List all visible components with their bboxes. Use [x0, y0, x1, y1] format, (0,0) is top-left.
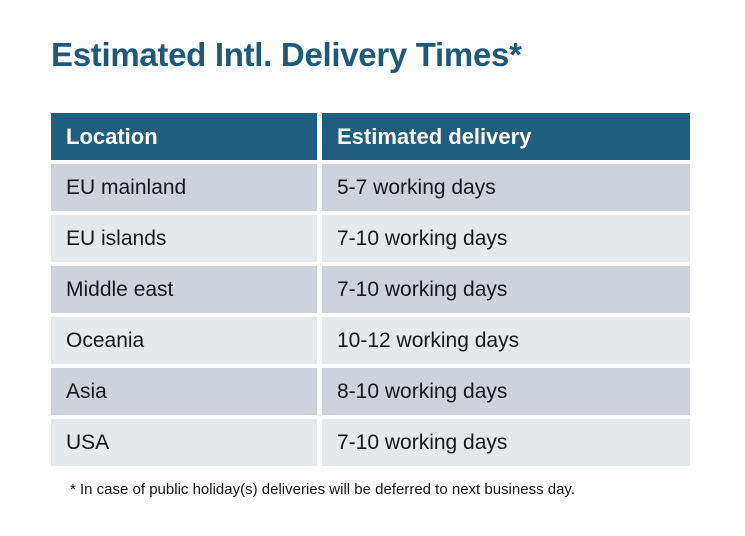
- cell-location: EU mainland: [51, 164, 317, 211]
- cell-estimated-delivery: 5-7 working days: [322, 164, 690, 211]
- cell-estimated-delivery: 10-12 working days: [322, 317, 690, 364]
- cell-location: Asia: [51, 368, 317, 415]
- footnote: * In case of public holiday(s) deliverie…: [70, 481, 575, 498]
- delivery-times-page: Estimated Intl. Delivery Times* Location…: [0, 0, 745, 536]
- cell-estimated-delivery: 7-10 working days: [322, 419, 690, 466]
- page-title: Estimated Intl. Delivery Times*: [51, 36, 522, 74]
- table-row: USA 7-10 working days: [51, 419, 690, 466]
- column-header-location: Location: [51, 113, 317, 160]
- table-row: EU islands 7-10 working days: [51, 215, 690, 262]
- table-header-row: Location Estimated delivery: [51, 113, 690, 160]
- column-header-estimated-delivery: Estimated delivery: [322, 113, 690, 160]
- cell-location: Oceania: [51, 317, 317, 364]
- table-row: Asia 8-10 working days: [51, 368, 690, 415]
- cell-location: Middle east: [51, 266, 317, 313]
- table-row: Oceania 10-12 working days: [51, 317, 690, 364]
- cell-estimated-delivery: 7-10 working days: [322, 266, 690, 313]
- table-row: EU mainland 5-7 working days: [51, 164, 690, 211]
- cell-location: EU islands: [51, 215, 317, 262]
- cell-estimated-delivery: 8-10 working days: [322, 368, 690, 415]
- cell-location: USA: [51, 419, 317, 466]
- estimated-delivery-table: Location Estimated delivery EU mainland …: [51, 113, 690, 466]
- cell-estimated-delivery: 7-10 working days: [322, 215, 690, 262]
- table-row: Middle east 7-10 working days: [51, 266, 690, 313]
